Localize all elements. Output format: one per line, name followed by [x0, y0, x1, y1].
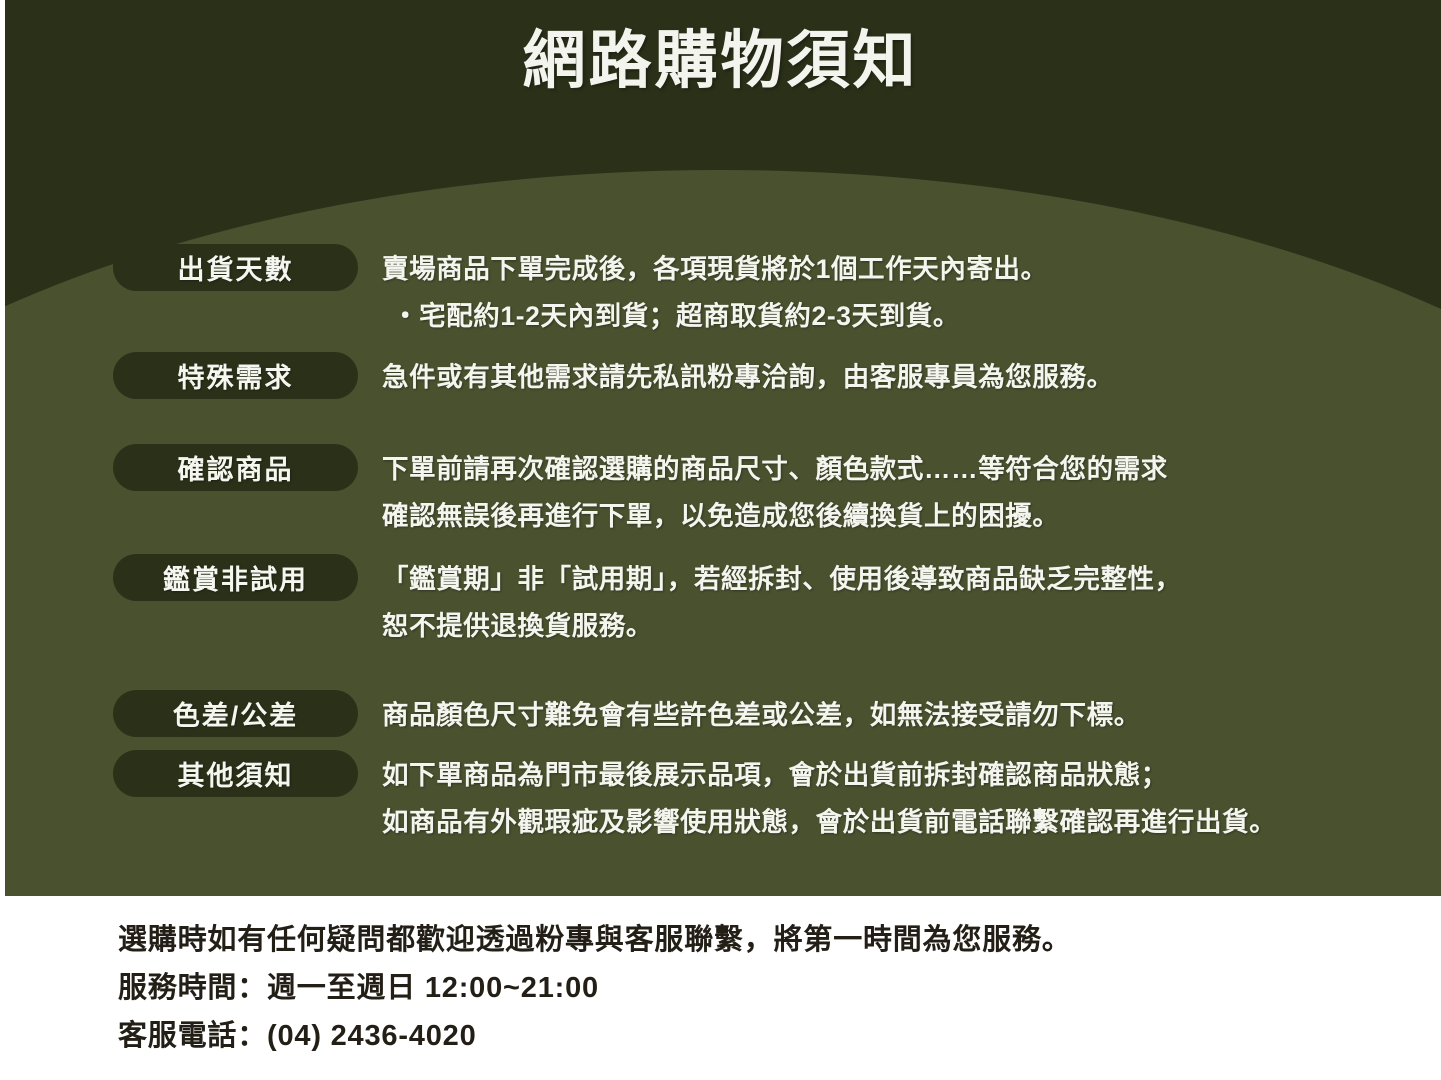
notice-text-column: 「鑑賞期」非「試用期」，若經拆封、使用後導致商品缺乏完整性， 恕不提供退換貨服務…: [358, 554, 1441, 650]
notice-row: 鑑賞非試用 「鑑賞期」非「試用期」，若經拆封、使用後導致商品缺乏完整性， 恕不提…: [0, 554, 1441, 650]
notice-text-line: 確認無誤後再進行下單，以免造成您後續換貨上的困擾。: [382, 493, 1441, 540]
footer-line-hours: 服務時間：週一至週日 12:00~21:00: [118, 964, 1441, 1012]
notice-label-column: 出貨天數: [0, 244, 358, 291]
notice-text-line: 急件或有其他需求請先私訊粉專洽詢，由客服專員為您服務。: [382, 354, 1441, 401]
notice-label-column: 特殊需求: [0, 352, 358, 399]
notice-label-badge: 特殊需求: [113, 352, 358, 399]
notice-text-column: 下單前請再次確認選購的商品尺寸、顏色款式……等符合您的需求 確認無誤後再進行下單…: [358, 444, 1441, 540]
shopping-notice-graphic: 網路購物須知 出貨天數 賣場商品下單完成後，各項現貨將於1個工作天內寄出。 ・宅…: [0, 0, 1441, 1080]
notice-text-line: 「鑑賞期」非「試用期」，若經拆封、使用後導致商品缺乏完整性，: [382, 556, 1441, 603]
notice-text-line: 如下單商品為門市最後展示品項，會於出貨前拆封確認商品狀態；: [382, 752, 1441, 799]
notice-label-badge: 其他須知: [113, 750, 358, 797]
notice-row: 色差/公差 商品顏色尺寸難免會有些許色差或公差，如無法接受請勿下標。: [0, 690, 1441, 739]
notice-label-column: 確認商品: [0, 444, 358, 491]
notice-row: 其他須知 如下單商品為門市最後展示品項，會於出貨前拆封確認商品狀態； 如商品有外…: [0, 750, 1441, 846]
notice-text-line: 下單前請再次確認選購的商品尺寸、顏色款式……等符合您的需求: [382, 446, 1441, 493]
page-title: 網路購物須知: [0, 25, 1441, 97]
notice-text-line: 恕不提供退換貨服務。: [382, 603, 1441, 650]
notice-label-badge: 出貨天數: [113, 244, 358, 291]
notice-text-line: 如商品有外觀瑕疵及影響使用狀態，會於出貨前電話聯繫確認再進行出貨。: [382, 799, 1441, 846]
notice-label-column: 鑑賞非試用: [0, 554, 358, 601]
footer-line-phone: 客服電話：(04) 2436-4020: [118, 1012, 1441, 1060]
notice-text-column: 商品顏色尺寸難免會有些許色差或公差，如無法接受請勿下標。: [358, 690, 1441, 739]
notice-row: 出貨天數 賣場商品下單完成後，各項現貨將於1個工作天內寄出。 ・宅配約1-2天內…: [0, 244, 1441, 340]
notice-list: 出貨天數 賣場商品下單完成後，各項現貨將於1個工作天內寄出。 ・宅配約1-2天內…: [0, 244, 1441, 846]
left-edge-stripe: [0, 0, 5, 896]
notice-text-line: ・宅配約1-2天內到貨；超商取貨約2-3天到貨。: [382, 293, 1441, 340]
notice-label-badge: 鑑賞非試用: [113, 554, 358, 601]
notice-text-line: 賣場商品下單完成後，各項現貨將於1個工作天內寄出。: [382, 246, 1441, 293]
notice-text-line: 商品顏色尺寸難免會有些許色差或公差，如無法接受請勿下標。: [382, 692, 1441, 739]
notice-text-column: 賣場商品下單完成後，各項現貨將於1個工作天內寄出。 ・宅配約1-2天內到貨；超商…: [358, 244, 1441, 340]
notice-label-badge: 確認商品: [113, 444, 358, 491]
footer-contact-block: 選購時如有任何疑問都歡迎透過粉專與客服聯繫，將第一時間為您服務。 服務時間：週一…: [0, 896, 1441, 1080]
notice-label-column: 其他須知: [0, 750, 358, 797]
notice-row: 確認商品 下單前請再次確認選購的商品尺寸、顏色款式……等符合您的需求 確認無誤後…: [0, 444, 1441, 540]
notice-label-badge: 色差/公差: [113, 690, 358, 737]
footer-line-support: 選購時如有任何疑問都歡迎透過粉專與客服聯繫，將第一時間為您服務。: [118, 916, 1441, 964]
notice-row: 特殊需求 急件或有其他需求請先私訊粉專洽詢，由客服專員為您服務。: [0, 352, 1441, 401]
notice-label-column: 色差/公差: [0, 690, 358, 737]
notice-text-column: 急件或有其他需求請先私訊粉專洽詢，由客服專員為您服務。: [358, 352, 1441, 401]
notice-text-column: 如下單商品為門市最後展示品項，會於出貨前拆封確認商品狀態； 如商品有外觀瑕疵及影…: [358, 750, 1441, 846]
